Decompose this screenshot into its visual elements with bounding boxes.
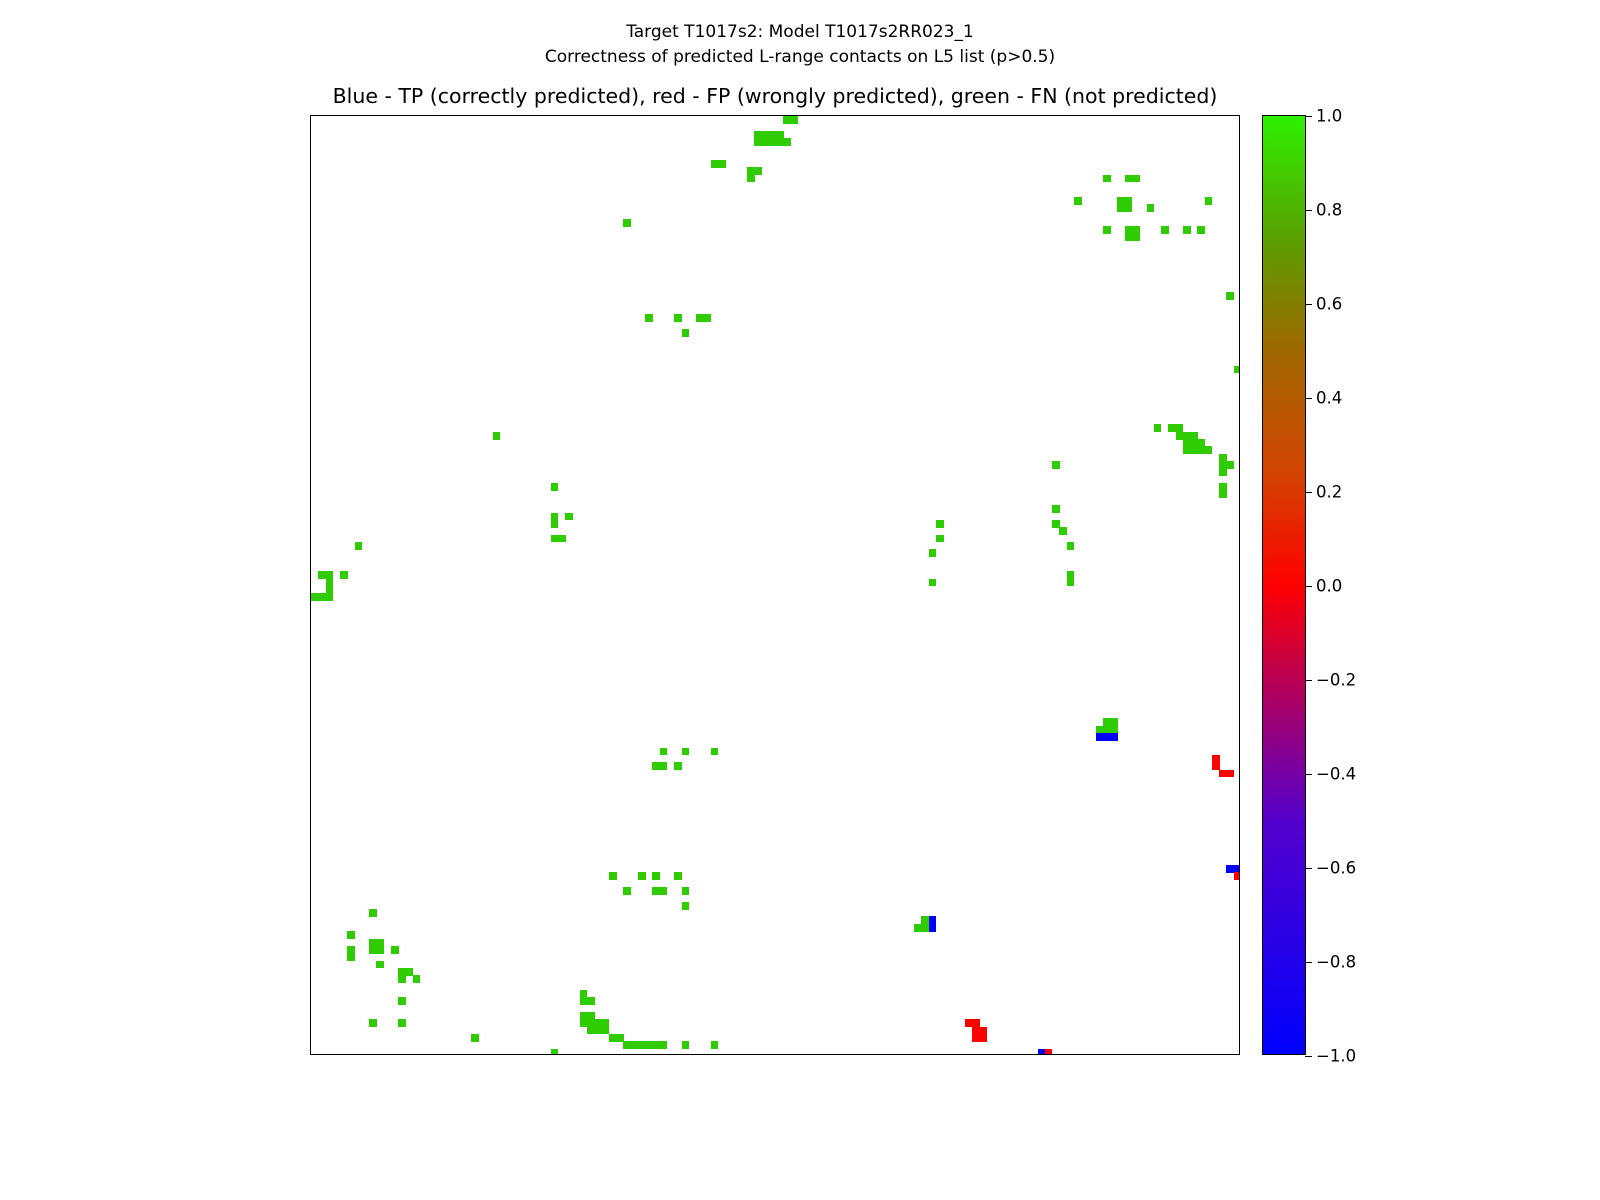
contact-cell-fn bbox=[682, 902, 690, 910]
x-tick-top-28 bbox=[511, 115, 512, 116]
y-tick-110 bbox=[310, 920, 311, 921]
contact-cell-fn bbox=[783, 116, 798, 124]
x-tick-24 bbox=[482, 1054, 483, 1055]
x-tick-98 bbox=[1019, 1054, 1020, 1055]
y-tick-right-73 bbox=[1239, 648, 1240, 649]
x-tick-67 bbox=[794, 1054, 795, 1055]
x-tick-top-59 bbox=[736, 115, 737, 116]
x-tick-top-41 bbox=[605, 115, 606, 116]
x-tick-top-103 bbox=[1056, 115, 1057, 116]
colorbar-tick-7 bbox=[1305, 774, 1312, 775]
x-tick-top-17 bbox=[431, 115, 432, 116]
x-tick-92 bbox=[976, 1054, 977, 1055]
y-tick-118 bbox=[310, 979, 311, 980]
contact-cell-fn bbox=[1197, 226, 1205, 234]
y-tick-107 bbox=[310, 898, 311, 899]
y-tick-right-96 bbox=[1239, 817, 1240, 818]
x-tick-top-58 bbox=[729, 115, 730, 116]
x-tick-120 bbox=[1179, 1054, 1180, 1055]
x-tick-87 bbox=[939, 1054, 940, 1055]
y-tick-right-111 bbox=[1239, 927, 1240, 928]
y-tick-3 bbox=[310, 134, 311, 135]
y-tick-right-82 bbox=[1239, 715, 1240, 716]
contact-cell-fn bbox=[652, 872, 660, 880]
y-tick-right-23 bbox=[1239, 281, 1240, 282]
contact-cell-fn bbox=[587, 1027, 609, 1035]
x-tick-39 bbox=[591, 1054, 592, 1055]
x-tick-14 bbox=[409, 1054, 410, 1055]
x-tick-top-50 bbox=[671, 115, 672, 116]
x-tick-top-125 bbox=[1216, 115, 1217, 116]
contact-cell-fn bbox=[1234, 366, 1240, 374]
x-tick-top-22 bbox=[467, 115, 468, 116]
x-tick-top-11 bbox=[387, 115, 388, 116]
y-tick-44 bbox=[310, 435, 311, 436]
y-tick-25 bbox=[310, 296, 311, 297]
y-tick-56 bbox=[310, 524, 311, 525]
y-tick-75 bbox=[310, 663, 311, 664]
x-tick-18 bbox=[438, 1054, 439, 1055]
x-tick-top-56 bbox=[714, 115, 715, 116]
y-tick-117 bbox=[310, 972, 311, 973]
x-tick-23 bbox=[474, 1054, 475, 1055]
y-tick-right-85 bbox=[1239, 737, 1240, 738]
x-tick-35 bbox=[562, 1054, 563, 1055]
x-tick-55 bbox=[707, 1054, 708, 1055]
y-tick-right-33 bbox=[1239, 355, 1240, 356]
x-tick-123 bbox=[1201, 1054, 1202, 1055]
contact-cell-fn bbox=[565, 513, 573, 521]
contact-map-cells bbox=[311, 116, 1239, 1054]
y-tick-right-62 bbox=[1239, 568, 1240, 569]
x-tick-top-19 bbox=[445, 115, 446, 116]
x-tick-top-53 bbox=[692, 115, 693, 116]
y-tick-115 bbox=[310, 957, 311, 958]
colorbar-tick-label-10: −1.0 bbox=[1316, 1047, 1356, 1066]
y-tick-94 bbox=[310, 803, 311, 804]
x-tick-top-100 bbox=[1034, 115, 1035, 116]
x-tick-10 bbox=[380, 1054, 381, 1055]
x-tick-59 bbox=[736, 1054, 737, 1055]
y-tick-54 bbox=[310, 509, 311, 510]
x-tick-top-77 bbox=[867, 115, 868, 116]
x-tick-93 bbox=[983, 1054, 984, 1055]
y-tick-125 bbox=[310, 1030, 311, 1031]
contact-cell-fn bbox=[580, 1012, 595, 1027]
contact-cell-fn bbox=[914, 924, 929, 932]
x-tick-top-63 bbox=[765, 115, 766, 116]
x-tick-54 bbox=[700, 1054, 701, 1055]
contact-cell-fn bbox=[776, 138, 791, 146]
y-tick-65 bbox=[310, 590, 311, 591]
x-tick-20 bbox=[453, 1054, 454, 1055]
contact-cell-fn bbox=[347, 931, 355, 939]
y-tick-right-40 bbox=[1239, 406, 1240, 407]
y-tick-23 bbox=[310, 281, 311, 282]
contact-cell-fn bbox=[1103, 226, 1111, 234]
x-tick-top-75 bbox=[852, 115, 853, 116]
x-tick-66 bbox=[787, 1054, 788, 1055]
y-tick-27 bbox=[310, 311, 311, 312]
y-tick-87 bbox=[310, 751, 311, 752]
y-tick-right-89 bbox=[1239, 766, 1240, 767]
x-tick-top-15 bbox=[416, 115, 417, 116]
y-tick-right-105 bbox=[1239, 883, 1240, 884]
contact-cell-fn bbox=[609, 872, 617, 880]
y-tick-right-54 bbox=[1239, 509, 1240, 510]
y-tick-right-10 bbox=[1239, 186, 1240, 187]
x-tick-top-124 bbox=[1208, 115, 1209, 116]
x-tick-top-69 bbox=[809, 115, 810, 116]
contact-cell-fn bbox=[645, 1041, 660, 1049]
x-tick-top-42 bbox=[613, 115, 614, 116]
y-tick-100 bbox=[310, 847, 311, 848]
y-tick-right-112 bbox=[1239, 935, 1240, 936]
x-tick-33 bbox=[547, 1054, 548, 1055]
colorbar[interactable]: 1.00.80.60.40.20.0−0.2−0.4−0.6−0.8−1.0 bbox=[1262, 115, 1306, 1055]
x-tick-top-101 bbox=[1041, 115, 1042, 116]
y-tick-45 bbox=[310, 443, 311, 444]
y-tick-38 bbox=[310, 391, 311, 392]
x-tick-91 bbox=[969, 1054, 970, 1055]
y-tick-right-6 bbox=[1239, 156, 1240, 157]
x-tick-65 bbox=[780, 1054, 781, 1055]
contact-cell-fn bbox=[660, 748, 668, 756]
y-tick-1 bbox=[310, 120, 311, 121]
y-tick-58 bbox=[310, 538, 311, 539]
y-tick-29 bbox=[310, 325, 311, 326]
y-tick-102 bbox=[310, 861, 311, 862]
y-tick-55 bbox=[310, 516, 311, 517]
y-tick-right-120 bbox=[1239, 994, 1240, 995]
suptitle-line-1: Target T1017s2: Model T1017s2RR023_1 bbox=[626, 22, 974, 42]
x-tick-4 bbox=[336, 1054, 337, 1055]
y-tick-69 bbox=[310, 619, 311, 620]
y-tick-62 bbox=[310, 568, 311, 569]
contact-cell-fn bbox=[1219, 469, 1227, 477]
contact-cell-fn bbox=[936, 535, 944, 543]
x-tick-15 bbox=[416, 1054, 417, 1055]
y-tick-123 bbox=[310, 1016, 311, 1017]
y-tick-right-17 bbox=[1239, 237, 1240, 238]
x-tick-top-43 bbox=[620, 115, 621, 116]
y-tick-22 bbox=[310, 274, 311, 275]
y-tick-right-66 bbox=[1239, 597, 1240, 598]
contact-cell-fn bbox=[376, 961, 384, 969]
x-tick-top-117 bbox=[1157, 115, 1158, 116]
y-tick-31 bbox=[310, 340, 311, 341]
x-tick-top-111 bbox=[1114, 115, 1115, 116]
y-tick-52 bbox=[310, 494, 311, 495]
y-tick-right-32 bbox=[1239, 347, 1240, 348]
contact-cell-fn bbox=[754, 138, 776, 146]
x-tick-top-116 bbox=[1150, 115, 1151, 116]
x-tick-top-123 bbox=[1201, 115, 1202, 116]
y-tick-right-97 bbox=[1239, 825, 1240, 826]
x-tick-top-5 bbox=[344, 115, 345, 116]
x-tick-21 bbox=[460, 1054, 461, 1055]
x-tick-38 bbox=[583, 1054, 584, 1055]
y-tick-39 bbox=[310, 399, 311, 400]
x-tick-top-26 bbox=[496, 115, 497, 116]
y-tick-right-7 bbox=[1239, 164, 1240, 165]
x-tick-top-38 bbox=[583, 115, 584, 116]
x-tick-top-98 bbox=[1019, 115, 1020, 116]
x-tick-top-94 bbox=[990, 115, 991, 116]
y-tick-right-15 bbox=[1239, 222, 1240, 223]
y-tick-right-25 bbox=[1239, 296, 1240, 297]
x-tick-83 bbox=[910, 1054, 911, 1055]
y-tick-97 bbox=[310, 825, 311, 826]
y-tick-right-4 bbox=[1239, 142, 1240, 143]
x-tick-top-109 bbox=[1099, 115, 1100, 116]
y-tick-right-3 bbox=[1239, 134, 1240, 135]
contact-cell-fn bbox=[674, 314, 682, 322]
y-tick-35 bbox=[310, 369, 311, 370]
y-tick-right-80 bbox=[1239, 700, 1240, 701]
contact-cell-fn bbox=[718, 160, 726, 168]
x-tick-70 bbox=[816, 1054, 817, 1055]
x-tick-top-87 bbox=[939, 115, 940, 116]
y-tick-right-16 bbox=[1239, 230, 1240, 231]
x-tick-85 bbox=[925, 1054, 926, 1055]
x-tick-top-29 bbox=[518, 115, 519, 116]
x-tick-77 bbox=[867, 1054, 868, 1055]
contact-cell-tp bbox=[929, 924, 937, 932]
contact-cell-fp bbox=[1234, 872, 1240, 880]
y-tick-120 bbox=[310, 994, 311, 995]
y-tick-114 bbox=[310, 950, 311, 951]
y-tick-right-91 bbox=[1239, 781, 1240, 782]
x-tick-25 bbox=[489, 1054, 490, 1055]
y-tick-19 bbox=[310, 252, 311, 253]
y-tick-right-110 bbox=[1239, 920, 1240, 921]
y-tick-right-79 bbox=[1239, 692, 1240, 693]
x-tick-top-25 bbox=[489, 115, 490, 116]
x-tick-top-36 bbox=[569, 115, 570, 116]
colorbar-tick-label-0: 1.0 bbox=[1316, 107, 1342, 126]
x-tick-top-49 bbox=[663, 115, 664, 116]
y-tick-113 bbox=[310, 942, 311, 943]
x-tick-62 bbox=[758, 1054, 759, 1055]
y-tick-32 bbox=[310, 347, 311, 348]
y-tick-right-19 bbox=[1239, 252, 1240, 253]
x-tick-90 bbox=[961, 1054, 962, 1055]
y-tick-right-70 bbox=[1239, 626, 1240, 627]
x-tick-top-126 bbox=[1223, 115, 1224, 116]
contact-cell-fn bbox=[398, 975, 406, 983]
x-tick-top-70 bbox=[816, 115, 817, 116]
x-tick-61 bbox=[751, 1054, 752, 1055]
y-tick-right-47 bbox=[1239, 457, 1240, 458]
y-tick-right-103 bbox=[1239, 869, 1240, 870]
y-tick-right-121 bbox=[1239, 1001, 1240, 1002]
contact-cell-fn bbox=[645, 314, 653, 322]
y-tick-right-107 bbox=[1239, 898, 1240, 899]
x-tick-top-9 bbox=[373, 115, 374, 116]
y-tick-right-26 bbox=[1239, 303, 1240, 304]
contact-cell-fn bbox=[1125, 175, 1140, 183]
y-tick-73 bbox=[310, 648, 311, 649]
x-tick-30 bbox=[525, 1054, 526, 1055]
x-tick-top-67 bbox=[794, 115, 795, 116]
y-tick-right-101 bbox=[1239, 854, 1240, 855]
y-tick-right-49 bbox=[1239, 472, 1240, 473]
contact-cell-fn bbox=[936, 520, 944, 528]
x-tick-top-113 bbox=[1128, 115, 1129, 116]
contact-map-plot-area[interactable]: 1144771010131316161919222225252828313134… bbox=[310, 115, 1240, 1055]
y-tick-14 bbox=[310, 215, 311, 216]
y-tick-60 bbox=[310, 553, 311, 554]
x-tick-top-73 bbox=[838, 115, 839, 116]
contact-cell-fn bbox=[580, 997, 595, 1005]
y-tick-91 bbox=[310, 781, 311, 782]
y-tick-7 bbox=[310, 164, 311, 165]
x-tick-89 bbox=[954, 1054, 955, 1055]
y-tick-right-99 bbox=[1239, 839, 1240, 840]
contact-cell-fn bbox=[369, 1019, 377, 1027]
y-tick-right-31 bbox=[1239, 340, 1240, 341]
y-tick-right-41 bbox=[1239, 413, 1240, 414]
x-tick-43 bbox=[620, 1054, 621, 1055]
y-tick-right-67 bbox=[1239, 604, 1240, 605]
y-tick-61 bbox=[310, 560, 311, 561]
y-tick-68 bbox=[310, 612, 311, 613]
x-tick-72 bbox=[830, 1054, 831, 1055]
x-tick-75 bbox=[852, 1054, 853, 1055]
contact-cell-fn bbox=[1183, 439, 1205, 454]
x-tick-top-78 bbox=[874, 115, 875, 116]
y-tick-right-71 bbox=[1239, 634, 1240, 635]
y-tick-right-5 bbox=[1239, 149, 1240, 150]
x-tick-108 bbox=[1092, 1054, 1093, 1055]
x-tick-69 bbox=[809, 1054, 810, 1055]
x-tick-top-82 bbox=[903, 115, 904, 116]
contact-cell-fn bbox=[471, 1034, 479, 1042]
y-tick-right-106 bbox=[1239, 891, 1240, 892]
x-tick-top-115 bbox=[1143, 115, 1144, 116]
y-tick-right-48 bbox=[1239, 465, 1240, 466]
y-tick-11 bbox=[310, 193, 311, 194]
colorbar-tick-8 bbox=[1305, 868, 1312, 869]
x-tick-top-39 bbox=[591, 115, 592, 116]
x-tick-51 bbox=[678, 1054, 679, 1055]
y-tick-13 bbox=[310, 208, 311, 209]
x-tick-8 bbox=[365, 1054, 366, 1055]
contact-cell-fn bbox=[1154, 424, 1162, 432]
y-tick-right-13 bbox=[1239, 208, 1240, 209]
x-tick-48 bbox=[656, 1054, 657, 1055]
y-tick-right-114 bbox=[1239, 950, 1240, 951]
contact-cell-fn bbox=[326, 586, 334, 601]
y-tick-right-20 bbox=[1239, 259, 1240, 260]
x-tick-top-44 bbox=[627, 115, 628, 116]
contact-cell-fn bbox=[413, 975, 421, 983]
x-tick-57 bbox=[722, 1054, 723, 1055]
contact-cell-fn bbox=[1103, 175, 1111, 183]
contact-cell-fp bbox=[1045, 1049, 1053, 1055]
y-tick-26 bbox=[310, 303, 311, 304]
x-tick-top-105 bbox=[1070, 115, 1071, 116]
contact-cell-fn bbox=[1205, 197, 1213, 205]
y-tick-right-8 bbox=[1239, 171, 1240, 172]
y-tick-78 bbox=[310, 685, 311, 686]
x-tick-top-93 bbox=[983, 115, 984, 116]
x-tick-top-81 bbox=[896, 115, 897, 116]
colorbar-tick-0 bbox=[1305, 116, 1312, 117]
y-tick-127 bbox=[310, 1045, 311, 1046]
x-tick-top-107 bbox=[1085, 115, 1086, 116]
x-tick-top-57 bbox=[722, 115, 723, 116]
x-tick-top-84 bbox=[918, 115, 919, 116]
x-tick-50 bbox=[671, 1054, 672, 1055]
y-tick-right-127 bbox=[1239, 1045, 1240, 1046]
y-tick-122 bbox=[310, 1008, 311, 1009]
y-tick-right-37 bbox=[1239, 384, 1240, 385]
x-tick-top-37 bbox=[576, 115, 577, 116]
y-tick-right-11 bbox=[1239, 193, 1240, 194]
y-tick-right-42 bbox=[1239, 421, 1240, 422]
y-tick-86 bbox=[310, 744, 311, 745]
y-tick-64 bbox=[310, 582, 311, 583]
contact-cell-fn bbox=[929, 579, 937, 587]
colorbar-tick-1 bbox=[1305, 210, 1312, 211]
y-tick-42 bbox=[310, 421, 311, 422]
x-tick-top-45 bbox=[634, 115, 635, 116]
contact-cell-fn bbox=[652, 762, 667, 770]
y-tick-49 bbox=[310, 472, 311, 473]
y-tick-5 bbox=[310, 149, 311, 150]
contact-cell-fn bbox=[682, 1041, 690, 1049]
x-tick-top-106 bbox=[1078, 115, 1079, 116]
x-tick-47 bbox=[649, 1054, 650, 1055]
y-tick-right-88 bbox=[1239, 759, 1240, 760]
y-tick-right-1 bbox=[1239, 120, 1240, 121]
y-tick-15 bbox=[310, 222, 311, 223]
y-tick-right-51 bbox=[1239, 487, 1240, 488]
x-tick-46 bbox=[642, 1054, 643, 1055]
y-tick-right-57 bbox=[1239, 531, 1240, 532]
y-tick-105 bbox=[310, 883, 311, 884]
x-tick-top-2 bbox=[322, 115, 323, 116]
y-tick-right-122 bbox=[1239, 1008, 1240, 1009]
contact-cell-fn bbox=[1219, 491, 1227, 499]
y-tick-right-22 bbox=[1239, 274, 1240, 275]
x-tick-top-112 bbox=[1121, 115, 1122, 116]
y-tick-40 bbox=[310, 406, 311, 407]
y-tick-104 bbox=[310, 876, 311, 877]
x-tick-top-23 bbox=[474, 115, 475, 116]
x-tick-top-33 bbox=[547, 115, 548, 116]
y-tick-51 bbox=[310, 487, 311, 488]
y-tick-right-117 bbox=[1239, 972, 1240, 973]
y-tick-4 bbox=[310, 142, 311, 143]
y-tick-right-93 bbox=[1239, 795, 1240, 796]
x-tick-top-128 bbox=[1237, 115, 1238, 116]
x-tick-63 bbox=[765, 1054, 766, 1055]
x-tick-88 bbox=[947, 1054, 948, 1055]
x-tick-top-12 bbox=[395, 115, 396, 116]
y-tick-17 bbox=[310, 237, 311, 238]
y-tick-77 bbox=[310, 678, 311, 679]
x-tick-121 bbox=[1187, 1054, 1188, 1055]
axes-title-legend: Blue - TP (correctly predicted), red - F… bbox=[310, 84, 1240, 108]
x-tick-top-108 bbox=[1092, 115, 1093, 116]
contact-cell-fn bbox=[696, 314, 711, 322]
y-tick-right-69 bbox=[1239, 619, 1240, 620]
contact-cell-fn bbox=[638, 872, 646, 880]
y-tick-47 bbox=[310, 457, 311, 458]
